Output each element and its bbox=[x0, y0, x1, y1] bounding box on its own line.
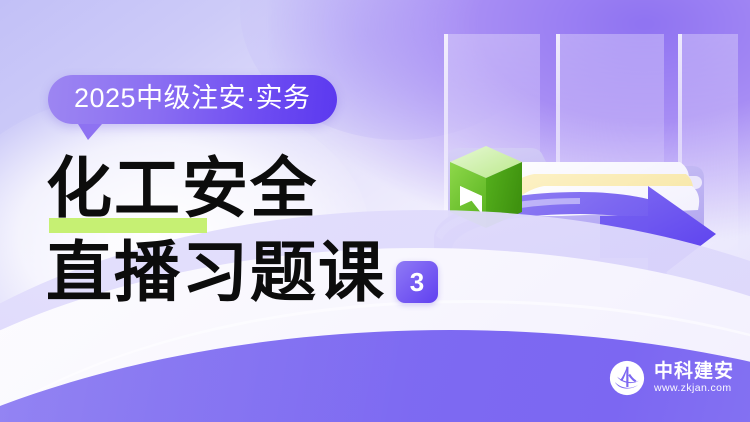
speech-bubble-tail bbox=[78, 124, 102, 140]
brand-logo[interactable]: 中科建安 www.zkjan.com bbox=[609, 360, 734, 396]
headline-line-1: 化工安全 bbox=[46, 148, 466, 232]
episode-number-badge: 3 bbox=[396, 261, 438, 303]
headline-line-2-row: 直播习题课 3 bbox=[46, 232, 466, 316]
course-badge[interactable]: 2025中级注安·实务 bbox=[48, 75, 337, 124]
headline-block: 化工安全 直播习题课 3 bbox=[46, 148, 466, 316]
course-badge-pill[interactable]: 2025中级注安·实务 bbox=[48, 75, 337, 124]
headline-line-1-row: 化工安全 bbox=[46, 148, 466, 232]
course-badge-label: 2025中级注安·实务 bbox=[74, 85, 311, 112]
brand-url: www.zkjan.com bbox=[654, 383, 734, 394]
brand-name: 中科建安 bbox=[654, 362, 734, 381]
episode-number-label: 3 bbox=[410, 269, 424, 295]
zk-circle-logo-icon bbox=[609, 360, 645, 396]
headline-line-2: 直播习题课 bbox=[46, 232, 386, 316]
brand-logo-text: 中科建安 www.zkjan.com bbox=[654, 362, 734, 394]
course-promo-banner: 2025中级注安·实务 化工安全 直播习题课 3 中科建安 www.zkja bbox=[0, 0, 750, 422]
